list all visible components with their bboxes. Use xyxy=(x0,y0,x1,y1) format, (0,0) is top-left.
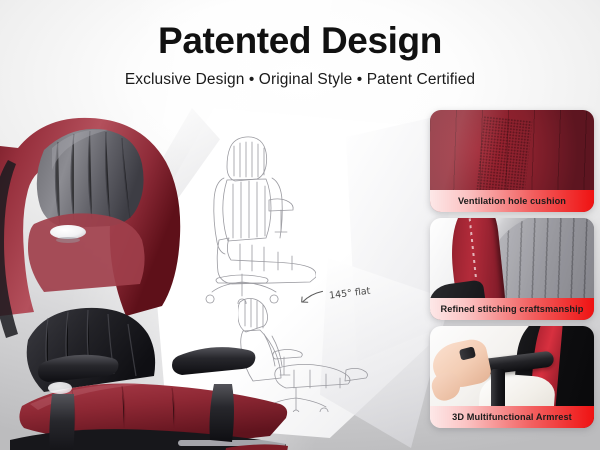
feature-card-stitching[interactable]: Refined stitching craftsmanship xyxy=(430,218,594,320)
feature-card-ventilation[interactable]: Ventilation hole cushion xyxy=(430,110,594,212)
header: Patented Design Exclusive Design • Origi… xyxy=(0,22,600,89)
feature-card-label: Ventilation hole cushion xyxy=(430,190,594,212)
chair-product-photo xyxy=(0,104,292,450)
feature-card-label: Refined stitching craftsmanship xyxy=(430,298,594,320)
promo-banner: 145° flat xyxy=(0,0,600,450)
feature-card-armrest[interactable]: 3D Multifunctional Armrest xyxy=(430,326,594,428)
feature-card-list: Ventilation hole cushion Refined stitchi… xyxy=(430,110,594,428)
page-subtitle: Exclusive Design • Original Style • Pate… xyxy=(0,71,600,89)
page-title: Patented Design xyxy=(0,22,600,59)
feature-card-label: 3D Multifunctional Armrest xyxy=(430,406,594,428)
